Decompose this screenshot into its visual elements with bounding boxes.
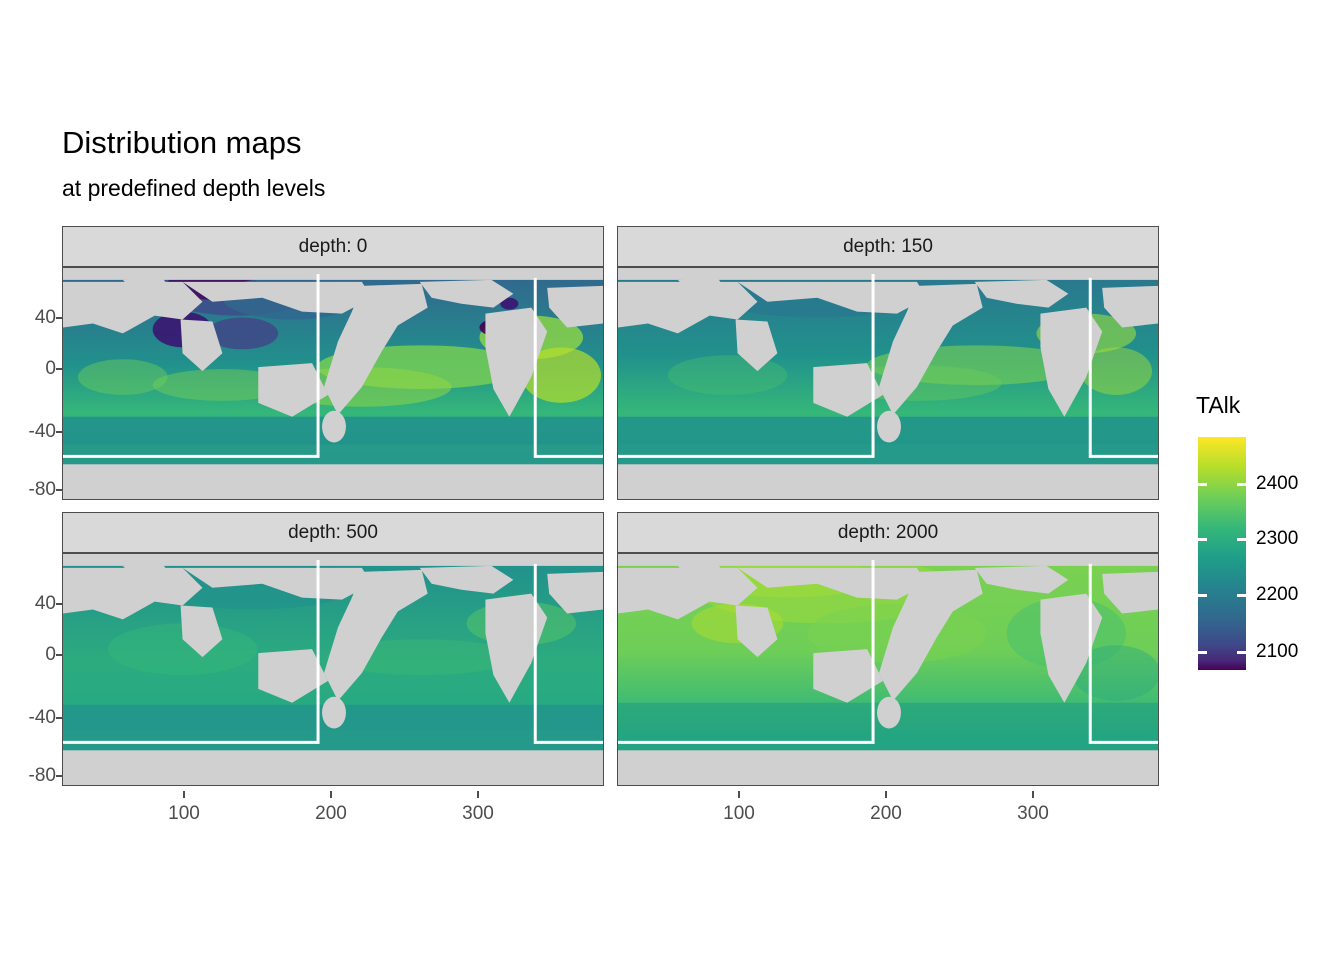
facet-strip-label: depth: 500 <box>288 522 378 544</box>
facet-panel-depth-2000: depth: 2000 <box>617 512 1159 786</box>
y-tick-label-minus40-row2: -40 <box>29 707 56 729</box>
x-tick-mark-300-col2 <box>1032 791 1034 798</box>
facet-grid: depth: 0 <box>62 226 1159 791</box>
page-subtitle: at predefined depth levels <box>62 175 325 201</box>
x-tick-label-300-col2: 300 <box>1017 803 1049 825</box>
page-title: Distribution maps <box>62 126 301 160</box>
colorbar-tick-2200-right <box>1237 594 1246 597</box>
colorbar-tick-2300-left <box>1198 538 1207 541</box>
map-canvas-depth-2000 <box>618 554 1158 785</box>
colorbar-tick-2400-right <box>1237 483 1246 486</box>
y-axis: 40 0 -40 -80 40 0 -40 -80 <box>0 226 56 791</box>
legend-title: TAlk <box>1196 392 1240 419</box>
facet-strip-depth-500: depth: 500 <box>62 512 604 553</box>
y-tick-label-40-row2: 40 <box>35 593 56 615</box>
y-tick-label-0-row2: 0 <box>45 644 56 666</box>
colorbar-label-2200: 2200 <box>1256 584 1298 606</box>
map-panel-depth-2000 <box>617 553 1159 786</box>
x-tick-mark-100 <box>183 791 185 798</box>
y-tick-label-minus40: -40 <box>29 421 56 443</box>
x-tick-label-100: 100 <box>168 803 200 825</box>
legend: TAlk 2400 2300 2200 2100 <box>1196 392 1336 692</box>
x-tick-mark-200-col2 <box>885 791 887 798</box>
facet-strip-depth-2000: depth: 2000 <box>617 512 1159 553</box>
y-tick-label-40: 40 <box>35 307 56 329</box>
facet-panel-depth-500: depth: 500 <box>62 512 604 786</box>
x-tick-label-200: 200 <box>315 803 347 825</box>
map-panel-depth-0 <box>62 267 604 500</box>
colorbar <box>1198 437 1246 670</box>
facet-strip-label: depth: 150 <box>843 236 933 258</box>
map-panel-depth-500 <box>62 553 604 786</box>
x-axis: 100 200 300 100 200 300 <box>62 791 1159 831</box>
x-tick-label-100-col2: 100 <box>723 803 755 825</box>
x-tick-mark-200 <box>330 791 332 798</box>
facet-strip-label: depth: 0 <box>299 236 368 258</box>
colorbar-label-2400: 2400 <box>1256 473 1298 495</box>
facet-strip-label: depth: 2000 <box>838 522 938 544</box>
colorbar-tick-2200-left <box>1198 594 1207 597</box>
facet-strip-depth-150: depth: 150 <box>617 226 1159 267</box>
colorbar-label-2100: 2100 <box>1256 641 1298 663</box>
colorbar-tick-2400-left <box>1198 483 1207 486</box>
map-canvas-depth-0 <box>63 268 603 499</box>
x-tick-mark-300 <box>477 791 479 798</box>
map-canvas-depth-500 <box>63 554 603 785</box>
colorbar-label-2300: 2300 <box>1256 528 1298 550</box>
x-tick-label-300: 300 <box>462 803 494 825</box>
facet-strip-depth-0: depth: 0 <box>62 226 604 267</box>
distribution-maps-figure: Distribution maps at predefined depth le… <box>0 0 1344 960</box>
y-tick-label-minus80-row2: -80 <box>29 765 56 787</box>
x-tick-mark-100-col2 <box>738 791 740 798</box>
x-tick-label-200-col2: 200 <box>870 803 902 825</box>
colorbar-tick-2100-right <box>1237 651 1246 654</box>
y-tick-label-0: 0 <box>45 358 56 380</box>
map-panel-depth-150 <box>617 267 1159 500</box>
map-canvas-depth-150 <box>618 268 1158 499</box>
facet-panel-depth-0: depth: 0 <box>62 226 604 500</box>
y-tick-label-minus80: -80 <box>29 479 56 501</box>
colorbar-tick-2100-left <box>1198 651 1207 654</box>
colorbar-tick-2300-right <box>1237 538 1246 541</box>
facet-panel-depth-150: depth: 150 <box>617 226 1159 500</box>
